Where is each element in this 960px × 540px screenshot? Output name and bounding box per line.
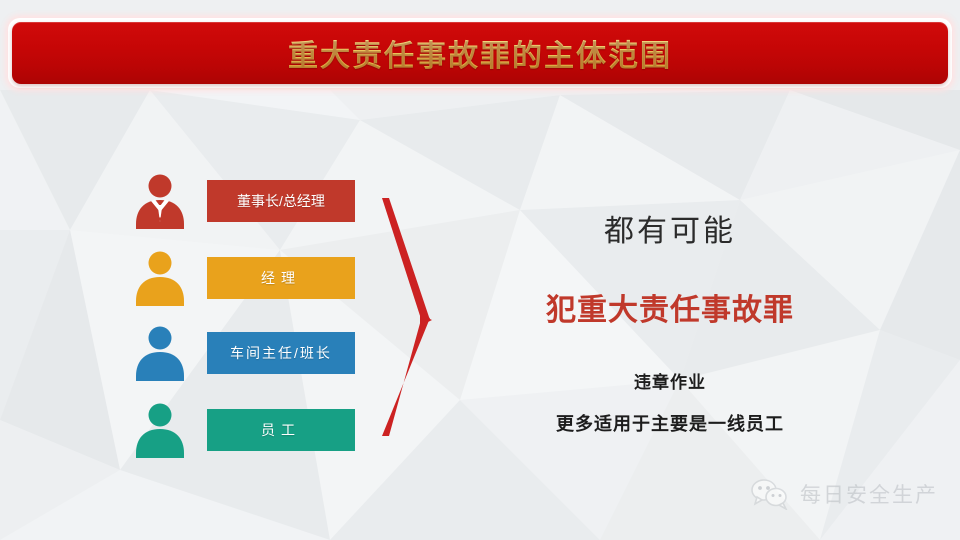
person-icon xyxy=(132,249,188,307)
role-bar-chairman[interactable]: 董事长/总经理 xyxy=(207,180,355,222)
person-icon xyxy=(132,401,188,459)
watermark-text: 每日安全生产 xyxy=(800,479,938,509)
role-row-manager[interactable]: 经理 xyxy=(132,249,362,307)
watermark: 每日安全生产 xyxy=(750,478,938,510)
conclusion-block: 都有可能 犯重大责任事故罪 违章作业 更多适用于主要是一线员工 xyxy=(470,0,960,540)
role-bar-supervisor[interactable]: 车间主任/班长 xyxy=(207,332,355,374)
role-bar-manager[interactable]: 经理 xyxy=(207,257,355,299)
role-row-chairman[interactable]: 董事长/总经理 xyxy=(132,172,362,230)
role-bar-employee[interactable]: 员工 xyxy=(207,409,355,451)
role-label-supervisor: 车间主任/班长 xyxy=(230,343,332,363)
role-label-employee: 员工 xyxy=(261,420,301,440)
slide-canvas: 重大责任事故罪的主体范围 董事长/总经理 经理 xyxy=(0,0,960,540)
role-label-chairman: 董事长/总经理 xyxy=(237,191,325,211)
role-row-employee[interactable]: 员工 xyxy=(132,401,362,459)
wechat-icon xyxy=(750,478,790,510)
red-chevron-arrow xyxy=(358,170,448,460)
conclusion-note-line-1: 违章作业 xyxy=(470,368,870,393)
role-list: 董事长/总经理 经理 车间主任/班长 xyxy=(0,0,400,540)
role-label-manager: 经理 xyxy=(261,268,301,288)
person-icon xyxy=(132,324,188,382)
person-suit-icon xyxy=(132,172,188,230)
conclusion-maybe: 都有可能 xyxy=(470,206,870,250)
role-row-supervisor[interactable]: 车间主任/班长 xyxy=(132,324,362,382)
conclusion-crime: 犯重大责任事故罪 xyxy=(470,285,870,329)
conclusion-note-line-2: 更多适用于主要是一线员工 xyxy=(470,410,870,436)
